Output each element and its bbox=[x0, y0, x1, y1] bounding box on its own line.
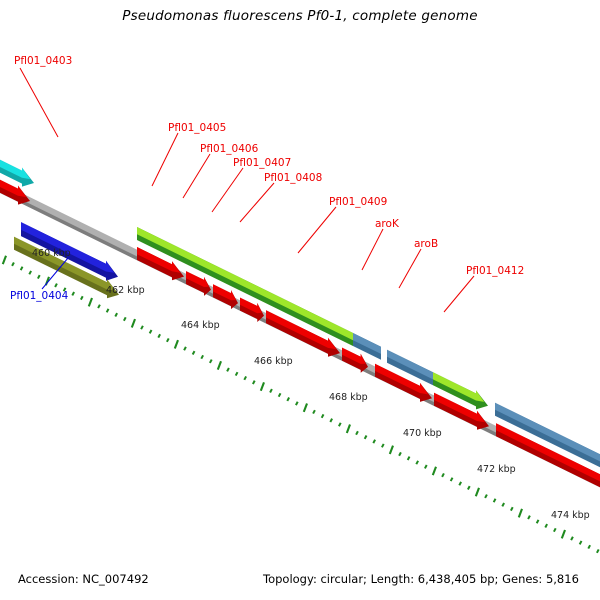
ruler-major-tick bbox=[433, 467, 436, 475]
ruler-tick-label: 474 kbp bbox=[551, 510, 590, 521]
gene-label-Pfl01_0407[interactable]: Pfl01_0407 bbox=[233, 157, 291, 169]
genome-diagram bbox=[0, 0, 600, 600]
ruler-minor-tick bbox=[468, 486, 470, 489]
ruler-tick-label: 462 kbp bbox=[106, 285, 145, 296]
ruler-minor-tick bbox=[287, 398, 289, 401]
ruler-major-tick bbox=[89, 298, 92, 306]
ruler-minor-tick bbox=[227, 368, 229, 371]
ruler-minor-tick bbox=[580, 541, 582, 544]
ruler-major-tick bbox=[519, 509, 522, 517]
leader-line-Pfl01_0405 bbox=[152, 133, 178, 186]
ruler-minor-tick bbox=[279, 393, 281, 396]
ruler-minor-tick bbox=[244, 376, 246, 379]
leader-line-Pfl01_0406 bbox=[183, 154, 210, 198]
ruler-minor-tick bbox=[253, 381, 255, 384]
ruler-minor-tick bbox=[167, 338, 169, 341]
ruler-minor-tick bbox=[236, 372, 238, 375]
ruler-major-tick bbox=[347, 425, 350, 433]
ruler-minor-tick bbox=[296, 402, 298, 405]
gene-label-Pfl01_0404[interactable]: Pfl01_0404 bbox=[10, 290, 68, 302]
ruler-minor-tick bbox=[184, 347, 186, 350]
leader-line-Pfl01_0403 bbox=[20, 68, 58, 137]
ruler-minor-tick bbox=[425, 465, 427, 468]
ruler-minor-tick bbox=[150, 330, 152, 333]
gene-label-aroB[interactable]: aroB bbox=[414, 238, 438, 250]
ruler-minor-tick bbox=[210, 360, 212, 363]
ruler-major-tick bbox=[390, 446, 393, 454]
ruler-minor-tick bbox=[459, 482, 461, 485]
ruler-tick-label: 472 kbp bbox=[477, 464, 516, 475]
ruler-minor-tick bbox=[373, 440, 375, 443]
gene-label-Pfl01_0403[interactable]: Pfl01_0403 bbox=[14, 55, 72, 67]
ruler-minor-tick bbox=[528, 516, 530, 519]
ruler-minor-tick bbox=[399, 452, 401, 455]
ruler-major-tick bbox=[3, 256, 6, 264]
ruler-minor-tick bbox=[588, 545, 590, 548]
ruler-minor-tick bbox=[330, 419, 332, 422]
leader-line-aroB bbox=[399, 249, 421, 288]
ruler-minor-tick bbox=[511, 507, 513, 510]
genome-summary-text: Topology: circular; Length: 6,438,405 bp… bbox=[263, 572, 579, 586]
ruler-minor-tick bbox=[201, 355, 203, 358]
ruler-minor-tick bbox=[98, 305, 100, 308]
ruler-minor-tick bbox=[38, 275, 40, 278]
ruler-minor-tick bbox=[322, 414, 324, 417]
ruler-minor-tick bbox=[442, 473, 444, 476]
gene-label-Pfl01_0412[interactable]: Pfl01_0412 bbox=[466, 265, 524, 277]
ruler-minor-tick bbox=[416, 461, 418, 464]
ruler-minor-tick bbox=[81, 296, 83, 299]
ruler-tick-label: 460 kbp bbox=[32, 248, 71, 259]
ruler-minor-tick bbox=[141, 326, 143, 329]
ruler-minor-tick bbox=[270, 389, 272, 392]
ruler-major-tick bbox=[261, 382, 264, 390]
ruler-minor-tick bbox=[382, 444, 384, 447]
ruler-minor-tick bbox=[193, 351, 195, 354]
ruler-tick-label: 468 kbp bbox=[329, 392, 368, 403]
ruler-minor-tick bbox=[494, 499, 496, 502]
gene-label-aroK[interactable]: aroK bbox=[375, 218, 399, 230]
ruler-minor-tick bbox=[158, 334, 160, 337]
ruler-minor-tick bbox=[502, 503, 504, 506]
scale-ruler bbox=[0, 241, 600, 569]
ruler-minor-tick bbox=[107, 309, 109, 312]
ruler-minor-tick bbox=[485, 495, 487, 498]
ruler-minor-tick bbox=[408, 457, 410, 460]
ruler-tick-label: 464 kbp bbox=[181, 320, 220, 331]
genome-map-canvas: Pseudomonas fluorescens Pf0-1, complete … bbox=[0, 0, 600, 600]
ruler-minor-tick bbox=[356, 431, 358, 434]
ruler-minor-tick bbox=[55, 284, 57, 287]
ruler-major-tick bbox=[218, 361, 221, 369]
ruler-major-tick bbox=[304, 403, 307, 411]
ruler-minor-tick bbox=[72, 292, 74, 295]
ruler-major-tick bbox=[476, 488, 479, 496]
ruler-minor-tick bbox=[365, 435, 367, 438]
leader-line-Pfl01_0412 bbox=[444, 276, 474, 312]
accession-text: Accession: NC_007492 bbox=[18, 572, 149, 586]
ruler-minor-tick bbox=[313, 410, 315, 413]
ruler-minor-tick bbox=[571, 537, 573, 540]
ruler-minor-tick bbox=[451, 478, 453, 481]
ruler-minor-tick bbox=[545, 524, 547, 527]
ruler-major-tick bbox=[175, 340, 178, 348]
gene-label-Pfl01_0406[interactable]: Pfl01_0406 bbox=[200, 143, 258, 155]
ruler-tick-label: 470 kbp bbox=[403, 428, 442, 439]
leader-line-Pfl01_0409 bbox=[298, 207, 336, 253]
gene-label-Pfl01_0408[interactable]: Pfl01_0408 bbox=[264, 172, 322, 184]
leader-line-aroK bbox=[362, 229, 383, 270]
ruler-major-tick bbox=[562, 530, 565, 538]
gene-track-layer bbox=[0, 149, 600, 500]
ruler-minor-tick bbox=[115, 313, 117, 316]
ruler-minor-tick bbox=[554, 528, 556, 531]
leader-line-Pfl01_0407 bbox=[212, 168, 243, 212]
leader-line-Pfl01_0408 bbox=[240, 183, 274, 222]
ruler-minor-tick bbox=[21, 267, 23, 270]
ruler-major-tick bbox=[132, 319, 135, 327]
ruler-minor-tick bbox=[124, 317, 126, 320]
ruler-minor-tick bbox=[12, 262, 14, 265]
ruler-minor-tick bbox=[339, 423, 341, 426]
ruler-minor-tick bbox=[29, 271, 31, 274]
ruler-minor-tick bbox=[537, 520, 539, 523]
gene-label-Pfl01_0409[interactable]: Pfl01_0409 bbox=[329, 196, 387, 208]
ruler-tick-label: 466 kbp bbox=[254, 356, 293, 367]
ruler-minor-tick bbox=[597, 549, 599, 552]
gene-label-Pfl01_0405[interactable]: Pfl01_0405 bbox=[168, 122, 226, 134]
